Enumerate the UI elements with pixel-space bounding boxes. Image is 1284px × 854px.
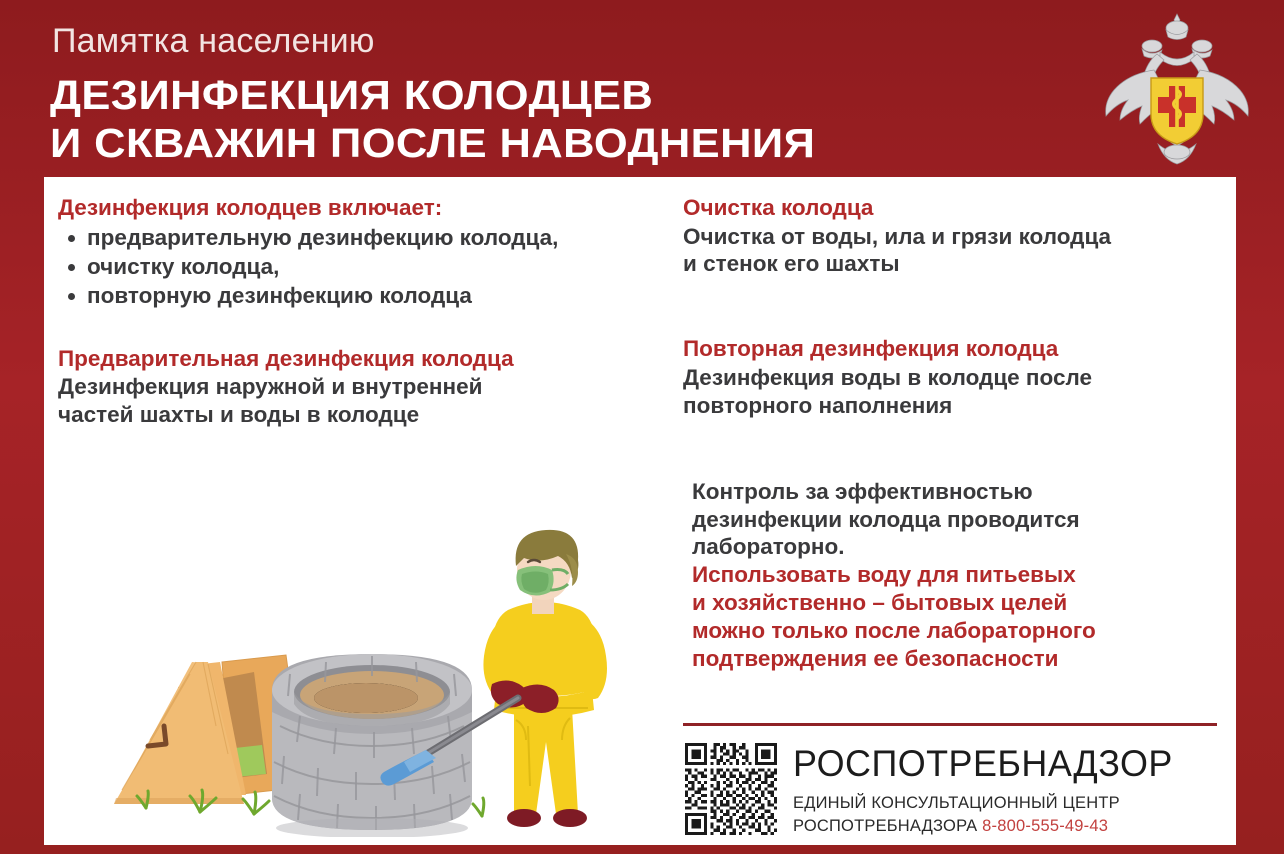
qr-code-icon[interactable] <box>685 743 777 835</box>
poster-title-line-1: ДЕЗИНФЕКЦИЯ КОЛОДЦЕВ <box>50 72 653 119</box>
well-cleaning-heading: Очистка колодца <box>683 195 1223 222</box>
repeat-disinfection-heading: Повторная дезинфекция колодца <box>683 336 1223 363</box>
consultation-center-line-2: РОСПОТРЕБНАДЗОРА 8-800-555-49-43 <box>793 816 1185 837</box>
well-cleaning-body-line-2: и стенок его шахты <box>683 250 1223 278</box>
repeat-disinfection-body-line-1: Дезинфекция воды в колодце после <box>683 364 1223 392</box>
organization-name: РОСПОТРЕБНАДЗОР <box>793 745 1173 782</box>
poster-root: Памятка населению ДЕЗИНФЕКЦИЯ КОЛОДЦЕВ И… <box>0 0 1284 854</box>
warning-line-3: можно только после лабораторного <box>692 617 1223 645</box>
preliminary-disinfection-body-line-2: частей шахты и воды в колодце <box>58 401 658 429</box>
warning-line-4: подтверждения ее безопасности <box>692 645 1223 673</box>
spacer <box>58 312 658 346</box>
warning-line-1: Использовать воду для питьевых <box>692 561 1223 589</box>
poster-header: Памятка населению ДЕЗИНФЕКЦИЯ КОЛОДЦЕВ И… <box>0 0 1284 177</box>
spacer <box>683 420 1223 478</box>
well-cleaning-body-line-1: Очистка от воды, ила и грязи колодца <box>683 223 1223 251</box>
right-column: Очистка колодца Очистка от воды, ила и г… <box>683 195 1223 673</box>
poster-title-line-2: И СКВАЖИН ПОСЛЕ НАВОДНЕНИЯ <box>50 120 815 167</box>
footer-divider <box>683 723 1217 726</box>
list-item: очистку колодца, <box>58 253 658 281</box>
list-item: повторную дезинфекцию колодца <box>58 282 658 310</box>
hotline-phone-number[interactable]: 8-800-555-49-43 <box>982 817 1108 835</box>
intro-heading: Дезинфекция колодцев включает: <box>58 195 658 222</box>
laboratory-control-block: Контроль за эффективностью дезинфекции к… <box>683 478 1223 673</box>
control-line-3: лабораторно. <box>692 533 1223 561</box>
consultation-center-line-1: ЕДИНЫЙ КОНСУЛЬТАЦИОННЫЙ ЦЕНТР <box>793 793 1185 814</box>
footer-branding: РОСПОТРЕБНАДЗОР ЕДИНЫЙ КОНСУЛЬТАЦИОННЫЙ … <box>685 743 1225 839</box>
warning-line-2: и хозяйственно – бытовых целей <box>692 589 1223 617</box>
consultation-center-label: РОСПОТРЕБНАДЗОРА <box>793 817 977 835</box>
disinfection-steps-list: предварительную дезинфекцию колодца, очи… <box>58 224 658 311</box>
preliminary-disinfection-heading: Предварительная дезинфекция колодца <box>58 346 658 373</box>
spacer <box>683 278 1223 336</box>
content-panel: Дезинфекция колодцев включает: предварит… <box>44 177 1236 845</box>
emblem-shield <box>1151 78 1203 144</box>
control-line-1: Контроль за эффективностью <box>692 478 1223 506</box>
well-disinfection-illustration <box>104 512 644 837</box>
rospotrebnadzor-emblem-icon <box>1092 6 1262 171</box>
list-item: предварительную дезинфекцию колодца, <box>58 224 658 252</box>
preliminary-disinfection-body-line-1: Дезинфекция наружной и внутренней <box>58 373 658 401</box>
poster-kicker: Памятка населению <box>52 22 375 61</box>
repeat-disinfection-body-line-2: повторного наполнения <box>683 392 1223 420</box>
control-line-2: дезинфекции колодца проводится <box>692 506 1223 534</box>
left-column: Дезинфекция колодцев включает: предварит… <box>58 195 658 429</box>
brand-text-block: РОСПОТРЕБНАДЗОР ЕДИНЫЙ КОНСУЛЬТАЦИОННЫЙ … <box>793 743 1185 837</box>
